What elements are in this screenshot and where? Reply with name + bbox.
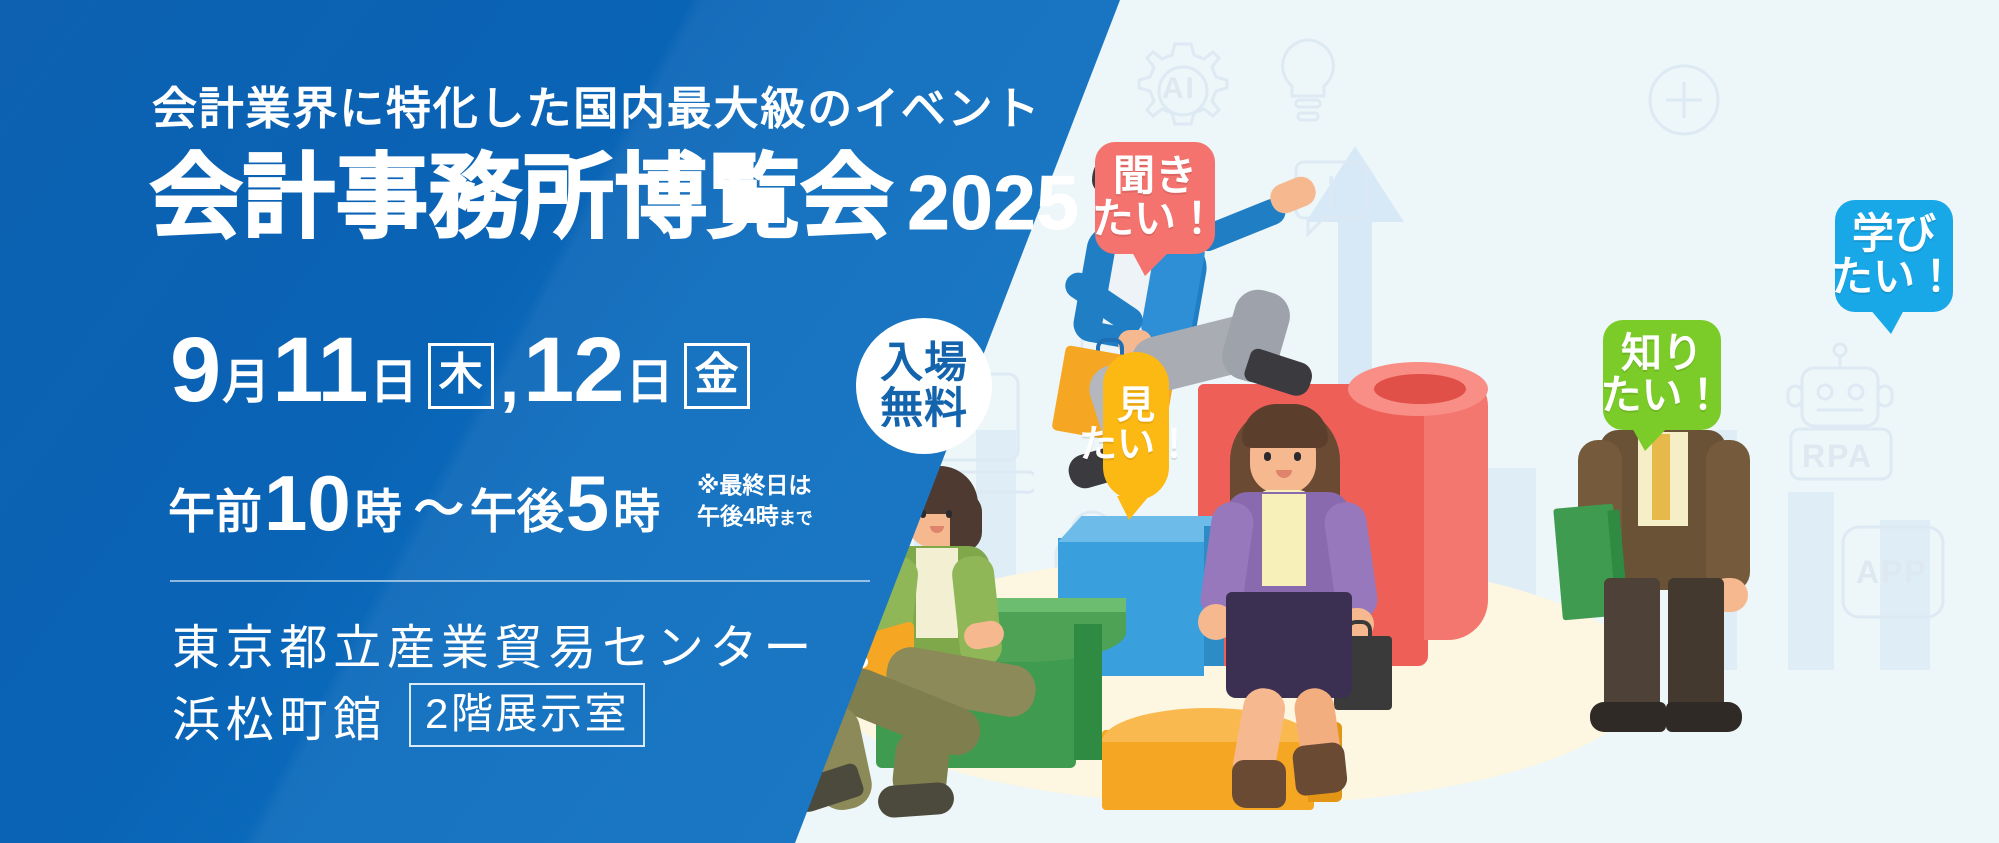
date-month-unit: 月 bbox=[222, 359, 270, 407]
speech-bubble-shiri: 知り たい！ bbox=[1603, 320, 1721, 430]
rpa-label: RPA bbox=[1802, 438, 1873, 475]
bubble-line2: たい！ bbox=[1079, 426, 1193, 465]
event-info: 会計業界に特化した国内最大級のイベント 会計事務所博覧会 2025 9 月 11… bbox=[0, 0, 1000, 843]
bubble-line1: 見 bbox=[1117, 387, 1155, 426]
free-admission-badge: 入場 無料 bbox=[856, 318, 992, 454]
date-separator: , bbox=[500, 343, 519, 413]
time-note-line1: ※最終日は bbox=[697, 470, 813, 501]
speech-bubble-mitai: 見 たい！ bbox=[1103, 352, 1169, 500]
title-year: 2025 bbox=[907, 160, 1079, 247]
time-note: ※最終日は 午後4時まで bbox=[697, 470, 813, 532]
venue-line2: 浜松町館 2階展示室 bbox=[172, 680, 645, 750]
time-am-hour: 10 bbox=[264, 468, 351, 540]
speech-bubble-kiki: 聞き たい！ bbox=[1095, 142, 1215, 254]
time-pm-unit: 時 bbox=[613, 488, 660, 535]
bubble-tail bbox=[1117, 496, 1149, 520]
time-am-unit: 時 bbox=[355, 488, 402, 535]
section-divider bbox=[170, 580, 870, 582]
date-day1-number: 11 bbox=[272, 328, 367, 413]
event-banner: AI bbox=[0, 0, 1999, 843]
date-day2-weekday: 金 bbox=[684, 343, 750, 409]
bubble-tail bbox=[1869, 308, 1905, 334]
venue-line1: 東京都立産業貿易センター bbox=[172, 608, 817, 678]
ai-gear-icon: AI bbox=[1128, 36, 1238, 146]
bubble-line1: 聞き bbox=[1113, 155, 1197, 198]
bubble-tail bbox=[1631, 426, 1669, 451]
time-pm-label: 午後 bbox=[470, 488, 564, 535]
ai-label: AI bbox=[1162, 72, 1196, 106]
rpa-badge-icon: RPA bbox=[1788, 426, 1894, 482]
venue-building: 浜松町館 bbox=[172, 680, 387, 750]
speech-bubble-manabi: 学び たい！ bbox=[1835, 200, 1953, 312]
bubble-tail bbox=[1131, 250, 1171, 276]
date-day1-weekday: 木 bbox=[428, 343, 494, 409]
bubble-line2: たい！ bbox=[1601, 375, 1724, 417]
plus-circle-icon bbox=[1646, 62, 1722, 138]
venue-room: 2階展示室 bbox=[409, 683, 645, 747]
lightbulb-icon bbox=[1272, 34, 1344, 130]
bubble-line1: 学び bbox=[1852, 213, 1936, 256]
bubble-line2: たい！ bbox=[1092, 198, 1218, 241]
character-woman-walking bbox=[1176, 392, 1436, 812]
bubble-line2: たい！ bbox=[1831, 256, 1957, 299]
time-pm-hour: 5 bbox=[566, 468, 609, 540]
title-main: 会計事務所博覧会 bbox=[150, 152, 893, 244]
app-icon: APP bbox=[1840, 524, 1946, 620]
time-note-suffix: まで bbox=[779, 509, 813, 528]
free-badge-line2: 無料 bbox=[880, 386, 968, 432]
time-am-label: 午前 bbox=[168, 488, 262, 535]
free-badge-line1: 入場 bbox=[880, 340, 968, 386]
event-time: 午前 10 時 〜 午後 5 時 bbox=[168, 468, 666, 540]
event-date: 9 月 11 日 木 , 12 日 金 bbox=[170, 328, 754, 413]
time-range-separator: 〜 bbox=[414, 484, 464, 534]
date-day2-number: 12 bbox=[523, 328, 624, 413]
time-note-line2: 午後4時 bbox=[697, 503, 779, 529]
app-label: APP bbox=[1856, 554, 1928, 591]
skyline-bar bbox=[1788, 492, 1834, 670]
date-month-number: 9 bbox=[170, 328, 220, 413]
date-day1-unit: 日 bbox=[370, 359, 418, 407]
event-title: 会計事務所博覧会 2025 bbox=[150, 152, 1080, 247]
bubble-line1: 知り bbox=[1621, 333, 1703, 375]
date-day2-unit: 日 bbox=[626, 359, 674, 407]
tagline: 会計業界に特化した国内最大級のイベント bbox=[152, 72, 1041, 137]
